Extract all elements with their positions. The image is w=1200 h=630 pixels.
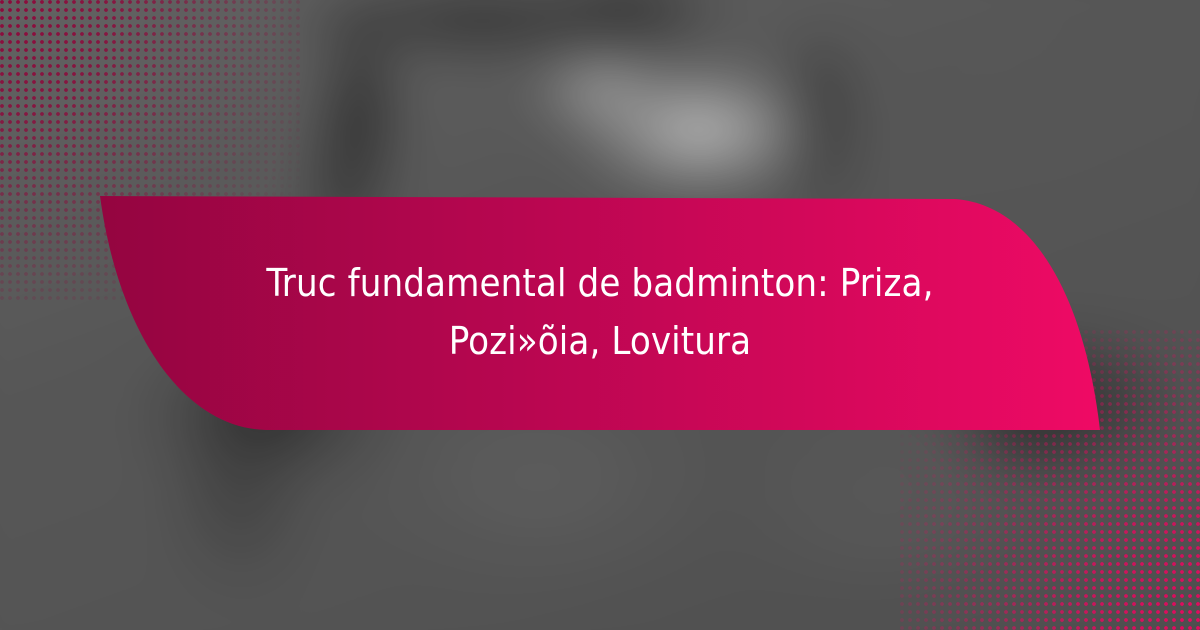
headline-container: Truc fundamental de badminton: Priza, Po…	[150, 196, 1050, 430]
social-share-card: Truc fundamental de badminton: Priza, Po…	[0, 0, 1200, 630]
page-title: Truc fundamental de badminton: Priza, Po…	[190, 255, 1010, 371]
